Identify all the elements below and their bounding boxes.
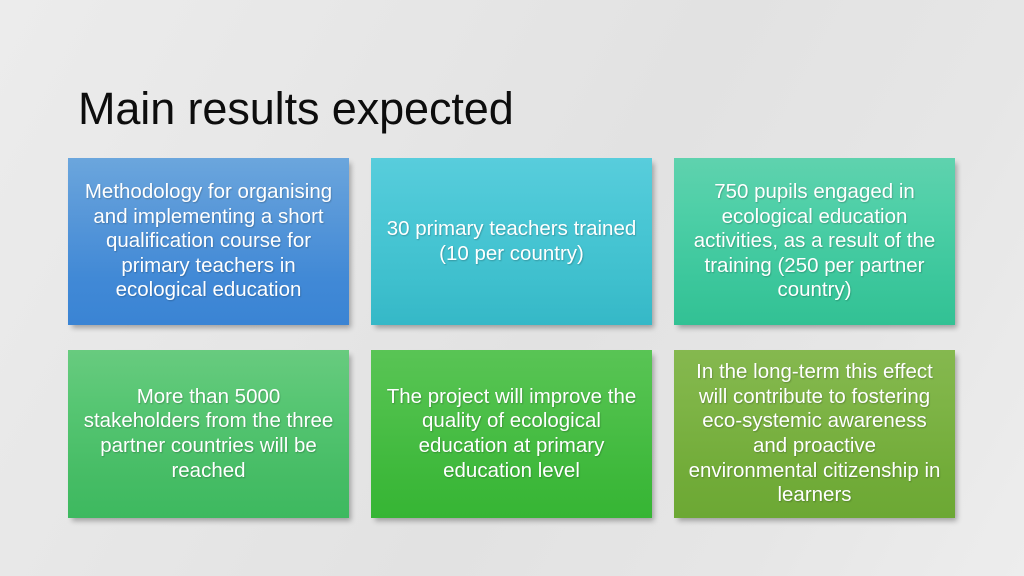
- result-card-long-term-effect[interactable]: In the long-term this effect will contri…: [674, 350, 955, 518]
- page-title: Main results expected: [78, 82, 958, 135]
- result-card-pupils-engaged[interactable]: 750 pupils engaged in ecological educati…: [674, 158, 955, 325]
- result-card-quality-improved[interactable]: The project will improve the quality of …: [371, 350, 652, 518]
- result-card-text: In the long-term this effect will contri…: [686, 360, 943, 508]
- result-card-text: The project will improve the quality of …: [383, 385, 640, 483]
- result-card-text: 30 primary teachers trained (10 per coun…: [383, 217, 640, 266]
- result-card-text: 750 pupils engaged in ecological educati…: [686, 180, 943, 303]
- results-grid: Methodology for organising and implement…: [68, 158, 956, 518]
- presentation-slide: Main results expected Methodology for or…: [0, 0, 1024, 576]
- result-card-stakeholders-reached[interactable]: More than 5000 stakeholders from the thr…: [68, 350, 349, 518]
- result-card-text: Methodology for organising and implement…: [80, 180, 337, 303]
- result-card-teachers-trained[interactable]: 30 primary teachers trained (10 per coun…: [371, 158, 652, 325]
- result-card-methodology[interactable]: Methodology for organising and implement…: [68, 158, 349, 325]
- result-card-text: More than 5000 stakeholders from the thr…: [80, 385, 337, 483]
